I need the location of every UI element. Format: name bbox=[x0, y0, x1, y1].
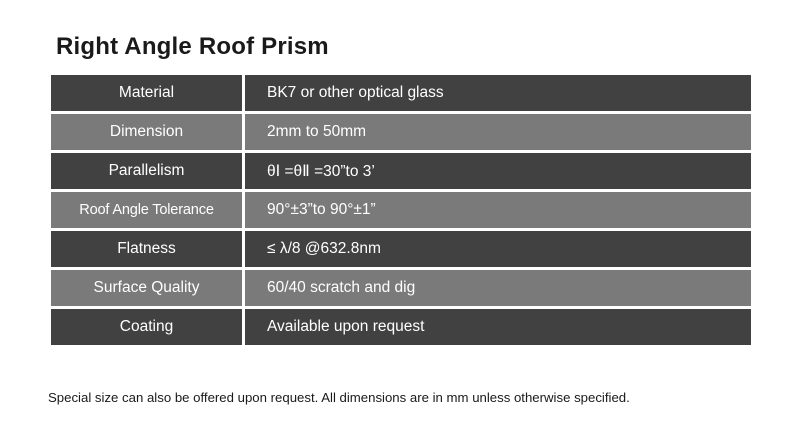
table-row: Dimension 2mm to 50mm bbox=[51, 114, 751, 150]
spec-label-dimension: Dimension bbox=[51, 114, 242, 150]
table-row: Flatness ≤ λ/8 @632.8nm bbox=[51, 231, 751, 267]
specification-table: Material BK7 or other optical glass Dime… bbox=[48, 72, 754, 348]
table-row: Coating Available upon request bbox=[51, 309, 751, 345]
table-row: Parallelism θⅠ =θⅡ =30”to 3’ bbox=[51, 153, 751, 189]
spec-value-coating: Available upon request bbox=[245, 309, 751, 345]
footer-note: Special size can also be offered upon re… bbox=[48, 390, 630, 405]
spec-value-surface-quality: 60/40 scratch and dig bbox=[245, 270, 751, 306]
table-row: Roof Angle Tolerance 90°±3”to 90°±1” bbox=[51, 192, 751, 228]
spec-value-material: BK7 or other optical glass bbox=[245, 75, 751, 111]
page-title: Right Angle Roof Prism bbox=[56, 33, 329, 61]
spec-value-parallelism: θⅠ =θⅡ =30”to 3’ bbox=[245, 153, 751, 189]
spec-label-roof-angle-tolerance: Roof Angle Tolerance bbox=[51, 192, 242, 228]
spec-value-flatness: ≤ λ/8 @632.8nm bbox=[245, 231, 751, 267]
spec-value-roof-angle-tolerance: 90°±3”to 90°±1” bbox=[245, 192, 751, 228]
spec-label-flatness: Flatness bbox=[51, 231, 242, 267]
spec-sheet-page: Right Angle Roof Prism Material BK7 or o… bbox=[0, 0, 800, 448]
table-row: Material BK7 or other optical glass bbox=[51, 75, 751, 111]
spec-label-material: Material bbox=[51, 75, 242, 111]
spec-label-parallelism: Parallelism bbox=[51, 153, 242, 189]
table-row: Surface Quality 60/40 scratch and dig bbox=[51, 270, 751, 306]
spec-label-coating: Coating bbox=[51, 309, 242, 345]
spec-label-surface-quality: Surface Quality bbox=[51, 270, 242, 306]
specification-table-body: Material BK7 or other optical glass Dime… bbox=[51, 75, 751, 345]
spec-value-dimension: 2mm to 50mm bbox=[245, 114, 751, 150]
